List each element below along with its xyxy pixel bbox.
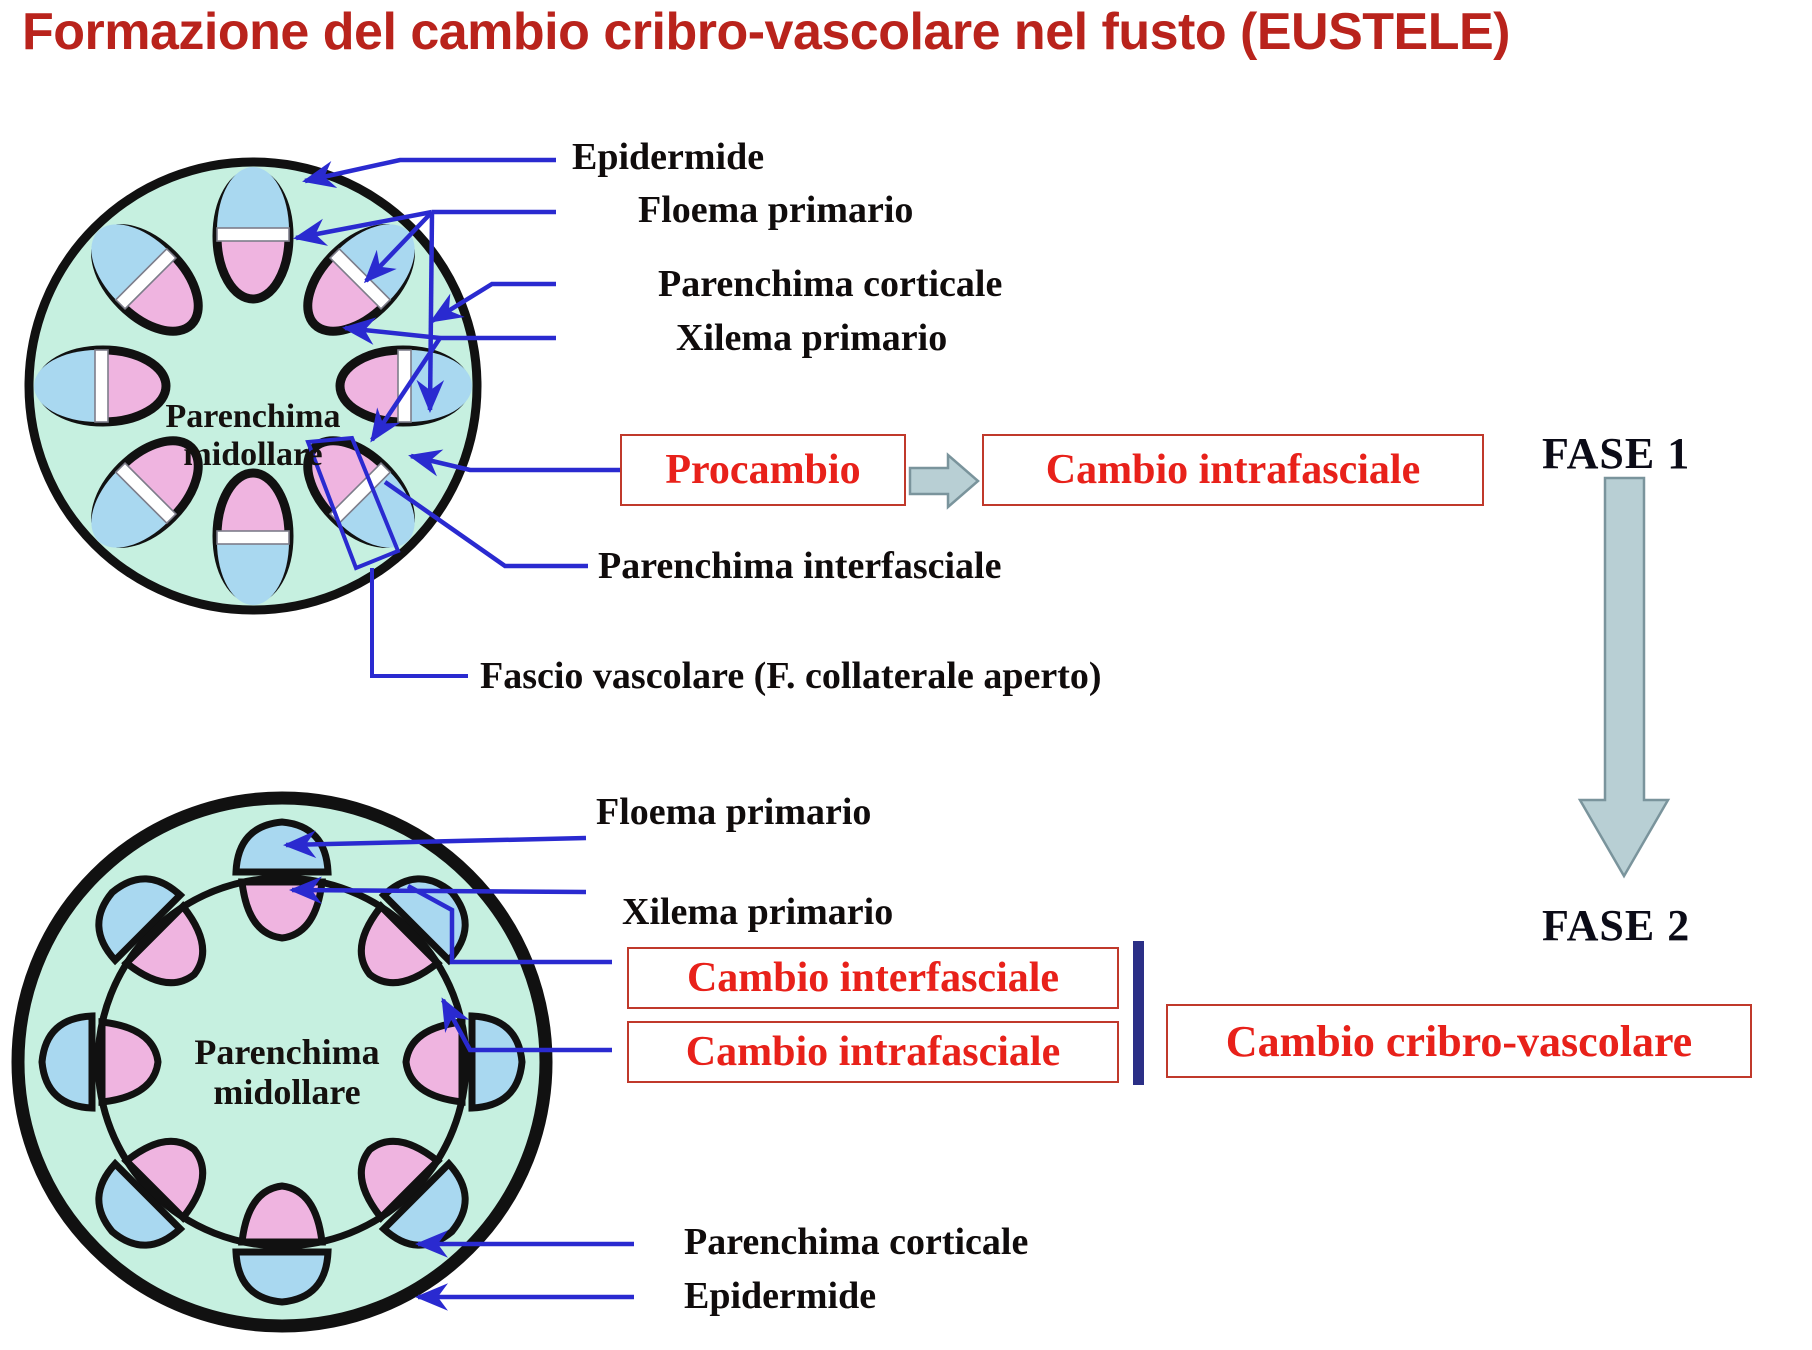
fase-1-label: FASE 1 [1542,428,1690,479]
label-parenchima-corticale-phase1: Parenchima corticale [658,262,1002,306]
grouping-divider [1133,941,1144,1085]
label-xilema-primario-phase1: Xilema primario [676,316,947,360]
vascular-bundle [217,473,289,605]
slide-canvas: Formazione del cambio cribro-vascolare n… [0,0,1812,1350]
down-arrow-icon [1580,478,1668,876]
label-parenchima-interfasciale-phase1: Parenchima interfasciale [598,544,1001,588]
label-epidermide-phase2: Epidermide [684,1274,876,1318]
right-arrow-icon [910,455,978,507]
label-floema-primario-phase1: Floema primario [638,188,913,232]
phase2-pith-label: Parenchima midollare [142,1032,432,1113]
vascular-bundle [217,167,289,299]
label-xilema-primario-phase2: Xilema primario [622,890,893,934]
label-fascio-vascolare-phase1: Fascio vascolare (F. collaterale aperto) [480,654,1102,698]
label-floema-primario-phase2: Floema primario [596,790,871,834]
cambio-interfasciale-box[interactable]: Cambio interfasciale [627,947,1119,1009]
cambio-intrafasciale-box-phase2[interactable]: Cambio intrafasciale [627,1021,1119,1083]
cambio-cribro-vascolare-box[interactable]: Cambio cribro-vascolare [1166,1004,1752,1078]
phase1-pith-label: Parenchima midollare [118,398,388,474]
procambio-box[interactable]: Procambio [620,434,906,506]
fase-2-label: FASE 2 [1542,900,1690,951]
label-parenchima-corticale-phase2: Parenchima corticale [684,1220,1028,1264]
label-epidermide-phase1: Epidermide [572,135,764,179]
cambio-intrafasciale-box-phase1[interactable]: Cambio intrafasciale [982,434,1484,506]
